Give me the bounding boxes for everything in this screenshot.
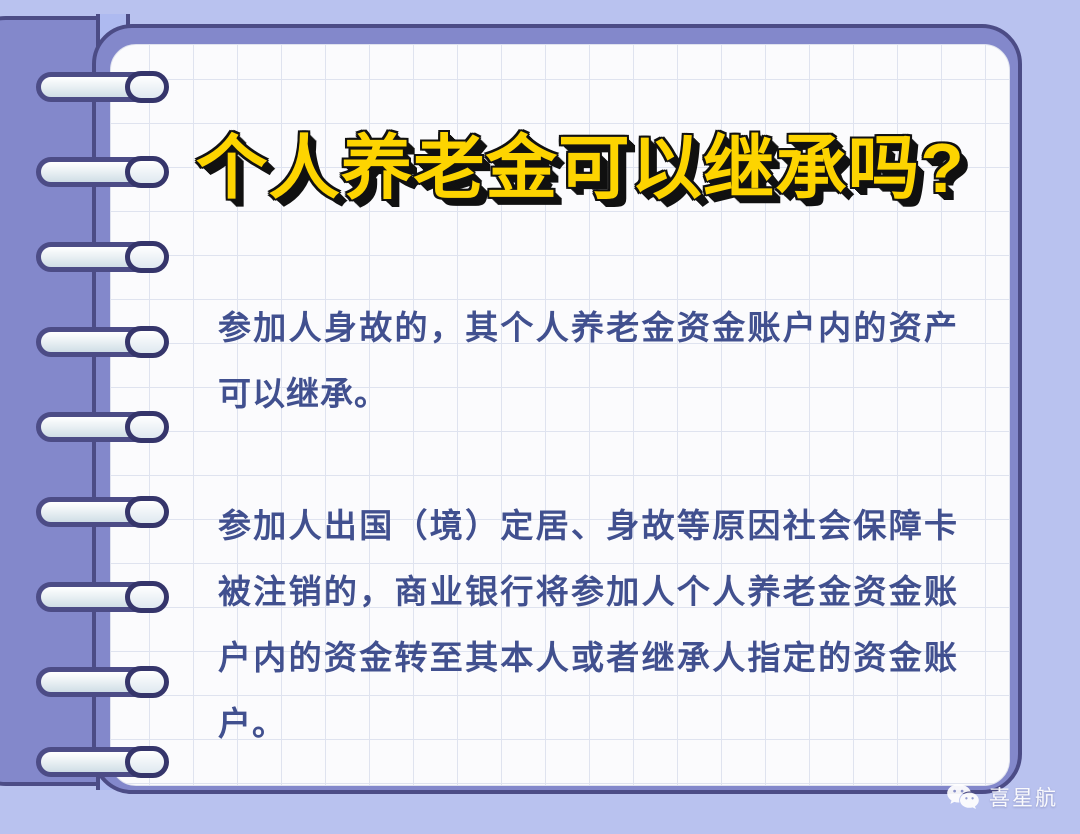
watermark-label: 喜星航 — [989, 782, 1058, 812]
spiral-ring-hook-icon — [125, 581, 169, 613]
spiral-ring-7 — [36, 582, 154, 612]
spiral-ring-6 — [36, 497, 154, 527]
spiral-ring-9 — [36, 747, 154, 777]
spiral-ring-2 — [36, 157, 154, 187]
spiral-ring-hook-icon — [125, 156, 169, 188]
spiral-ring-hook-icon — [125, 71, 169, 103]
watermark: 喜星航 — [946, 782, 1058, 812]
spiral-ring-8 — [36, 667, 154, 697]
spiral-ring-hook-icon — [125, 241, 169, 273]
body-paragraph-2: 参加人出国（境）定居、身故等原因社会保障卡被注销的，商业银行将参加人个人养老金资… — [218, 493, 958, 757]
body-paragraph-1: 参加人身故的，其个人养老金资金账户内的资产可以继承。 — [218, 295, 958, 427]
spiral-ring-5 — [36, 412, 154, 442]
spiral-ring-hook-icon — [125, 746, 169, 778]
spiral-ring-1 — [36, 72, 154, 102]
spiral-ring-hook-icon — [125, 326, 169, 358]
spiral-ring-4 — [36, 327, 154, 357]
notebook-poster: 个人养老金可以继承吗? 参加人身故的，其个人养老金资金账户内的资产可以继承。 参… — [0, 0, 1080, 834]
wechat-icon — [946, 783, 980, 812]
spiral-ring-hook-icon — [125, 666, 169, 698]
headline-block: 个人养老金可以继承吗? — [196, 133, 986, 203]
page-title: 个人养老金可以继承吗? — [196, 133, 1002, 203]
spiral-ring-hook-icon — [125, 496, 169, 528]
spiral-ring-hook-icon — [125, 411, 169, 443]
body-copy-block: 参加人身故的，其个人养老金资金账户内的资产可以继承。 参加人出国（境）定居、身故… — [218, 295, 958, 757]
spiral-ring-3 — [36, 242, 154, 272]
